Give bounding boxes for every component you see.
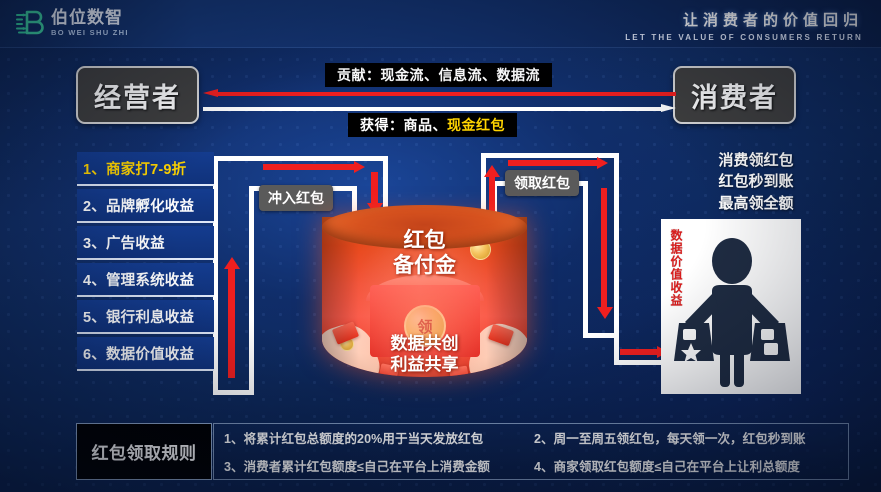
benefit-item-3[interactable]: 3、广告收益	[77, 226, 214, 260]
benefit-item-5[interactable]: 5、银行利息收益	[77, 300, 214, 334]
consumer-box: 消费者	[673, 66, 796, 124]
brand-logo: 伯位数智 BO WEI SHU ZHI	[14, 8, 129, 38]
slogan-en: LET THE VALUE OF CONSUMERS RETURN	[625, 33, 863, 42]
red-arrow-down2-head-icon	[597, 307, 613, 319]
obtain-label: 获得：商品、现金红包	[348, 113, 517, 137]
red-arrow-down2-shaft	[601, 188, 607, 308]
envelope-flap	[366, 275, 484, 301]
consumer-note-line3: 最高领全额	[681, 193, 831, 214]
shopper-with-bags-icon	[661, 219, 801, 394]
cylinder-sub-line2: 利益共享	[322, 354, 527, 375]
path-right-bottom-connect	[583, 333, 588, 338]
red-arrow-up-head-icon	[224, 257, 240, 269]
path-right-vertical-inner	[583, 181, 588, 338]
benefit-item-6[interactable]: 6、数据价值收益	[77, 337, 214, 371]
rule-item-3: 3、消费者累计红包额度≤自己在平台上消费金额	[224, 456, 534, 475]
consumer-benefit-note: 消费领红包 红包秒到账 最高领全额	[681, 150, 831, 214]
red-arrow-down-shaft	[371, 172, 378, 204]
rule-item-2: 2、周一至周五领红包，每天领一次，红包秒到账	[534, 428, 844, 447]
red-arrow-right-head-icon	[354, 161, 365, 173]
cylinder-title: 红包 备付金	[322, 229, 527, 279]
obtain-arrow-right-icon	[203, 104, 676, 113]
contribute-label-text: 贡献：现金流、信息流、数据流	[337, 65, 540, 85]
circuit-b-logo-icon	[14, 8, 44, 38]
obtain-label-text: 获得：商品、	[360, 115, 447, 135]
benefit-item-2[interactable]: 2、品牌孵化收益	[77, 189, 214, 223]
slide-canvas: 伯位数智 BO WEI SHU ZHI 让消费者的价值回归 LET THE VA…	[0, 0, 881, 492]
slogan-cn: 让消费者的价值回归	[625, 9, 863, 30]
path-left-inner-vertical	[249, 186, 254, 395]
benefit-list: 1、商家打7-9折 2、品牌孵化收益 3、广告收益 4、管理系统收益 5、银行利…	[77, 152, 214, 374]
logo-name-en: BO WEI SHU ZHI	[51, 29, 129, 37]
consumer-note-line2: 红包秒到账	[681, 171, 831, 192]
cylinder-title-line2: 备付金	[322, 254, 527, 279]
shopper-card: 数据价值收益	[661, 219, 801, 394]
rule-item-4: 4、商家领取红包额度≤自己在平台上让利总额度	[534, 456, 844, 475]
path-right-bottom-inner	[583, 333, 619, 338]
rules-title: 红包领取规则	[76, 423, 212, 480]
benefit-item-1[interactable]: 1、商家打7-9折	[77, 152, 214, 186]
operator-box: 经营者	[76, 66, 199, 124]
cylinder-title-line1: 红包	[322, 229, 527, 254]
logo-name-cn: 伯位数智	[51, 9, 129, 26]
benefit-item-4[interactable]: 4、管理系统收益	[77, 263, 214, 297]
contribute-label: 贡献：现金流、信息流、数据流	[325, 63, 552, 87]
red-arrow-right2-head-icon	[597, 157, 608, 169]
red-arrow-up2-head-icon	[484, 165, 500, 177]
red-arrow-up-shaft	[228, 268, 235, 378]
cylinder-sub-line1: 数据共创	[322, 333, 527, 354]
claim-redpacket-pill: 领取红包	[505, 170, 579, 196]
redpacket-reserve-cylinder: 领 红包 备付金 数据共创 利益共享	[322, 205, 527, 390]
slogan: 让消费者的价值回归 LET THE VALUE OF CONSUMERS RET…	[625, 9, 863, 42]
rule-item-1: 1、将累计红包总额度的20%用于当天发放红包	[224, 428, 534, 447]
rules-panel: 1、将累计红包总额度的20%用于当天发放红包 2、周一至周五领红包，每天领一次，…	[213, 423, 849, 480]
cylinder-subtitle: 数据共创 利益共享	[322, 333, 527, 376]
red-arrow-right2-shaft	[508, 160, 598, 166]
obtain-label-highlight: 现金红包	[447, 115, 505, 135]
contribute-arrow-left-icon	[203, 89, 676, 98]
consumer-note-line1: 消费领红包	[681, 150, 831, 171]
red-arrow-right3-shaft	[620, 349, 658, 355]
path-left-bottom	[213, 390, 254, 395]
red-arrow-right-shaft	[263, 164, 355, 170]
path-right-bottom-outer	[614, 360, 664, 365]
